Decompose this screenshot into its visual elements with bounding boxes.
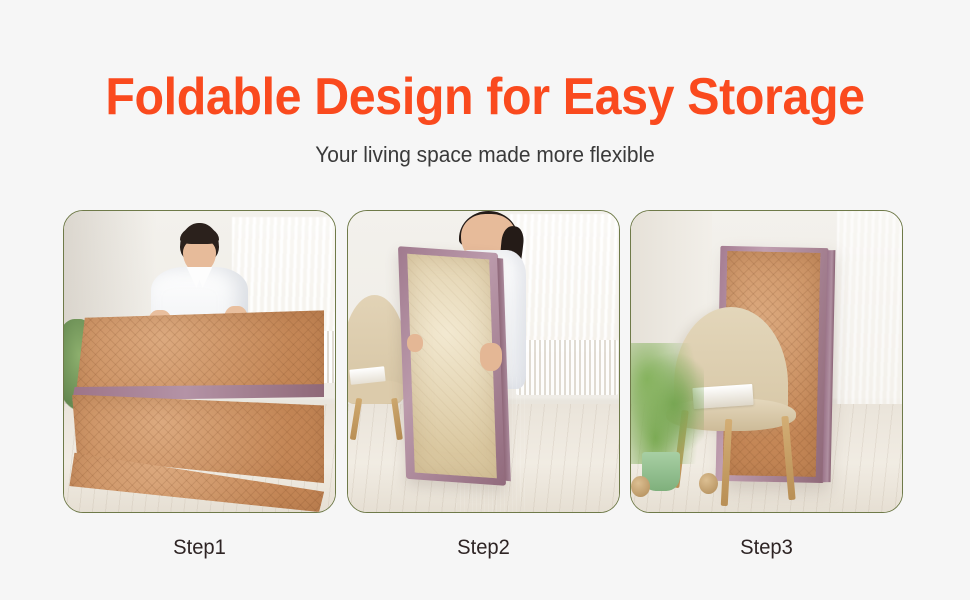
step-3-label: Step3 bbox=[635, 536, 897, 560]
banner-root: Foldable Design for Easy Storage Your li… bbox=[0, 0, 970, 600]
step-item: Step1 bbox=[63, 210, 336, 513]
hand-lower bbox=[480, 343, 502, 370]
window-icon bbox=[510, 214, 618, 352]
step-1-photo bbox=[63, 210, 336, 513]
step-item: Step2 bbox=[347, 210, 620, 513]
step-3-photo bbox=[630, 210, 903, 513]
plant-leaves-icon bbox=[630, 343, 704, 463]
rattan-ball-icon bbox=[631, 476, 650, 497]
page-title: Foldable Design for Easy Storage bbox=[34, 0, 936, 126]
step-gallery: Step1 bbox=[63, 210, 903, 513]
rattan-ball-icon bbox=[699, 473, 718, 494]
page-subtitle: Your living space made more flexible bbox=[24, 126, 946, 168]
step-1-label: Step1 bbox=[68, 536, 330, 560]
radiator-icon bbox=[516, 340, 619, 394]
hair-front-shape bbox=[180, 226, 219, 245]
banner-header: Foldable Design for Easy Storage Your li… bbox=[0, 0, 970, 168]
magazine-icon bbox=[350, 366, 387, 385]
step-2-label: Step2 bbox=[352, 536, 614, 560]
step-item: Step3 bbox=[630, 210, 903, 513]
step-2-photo bbox=[347, 210, 620, 513]
